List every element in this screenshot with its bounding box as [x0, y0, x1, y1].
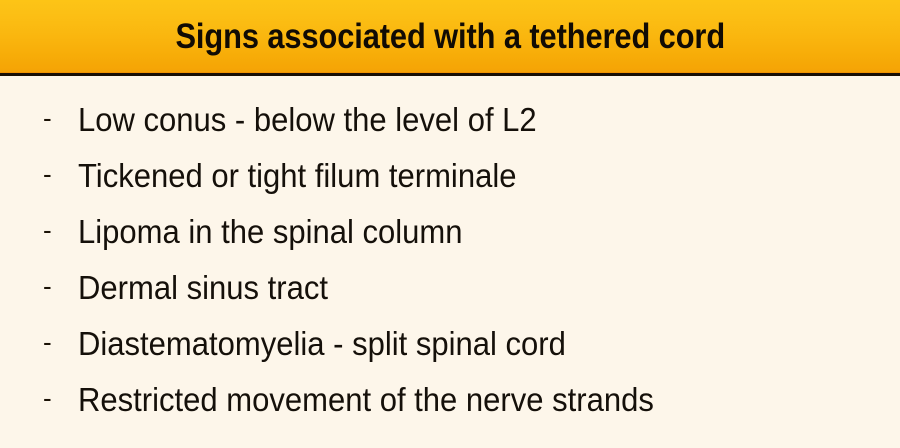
list-item: - Lipoma in the spinal column	[0, 204, 900, 260]
list-item: - Diastematomyelia - split spinal cord	[0, 316, 900, 372]
list-item-label: Restricted movement of the nerve strands	[78, 382, 654, 418]
list-item: - Low conus - below the level of L2	[0, 92, 900, 148]
slide-canvas: Signs associated with a tethered cord - …	[0, 0, 900, 448]
dash-marker-icon: -	[43, 217, 78, 243]
dash-marker-icon: -	[43, 329, 78, 355]
dash-marker-icon: -	[43, 273, 78, 299]
dash-marker-icon: -	[43, 385, 78, 411]
page-title: Signs associated with a tethered cord	[175, 19, 725, 54]
title-bar: Signs associated with a tethered cord	[0, 0, 900, 72]
list-item-label: Diastematomyelia - split spinal cord	[78, 326, 566, 362]
signs-list: - Low conus - below the level of L2 - Ti…	[0, 76, 900, 448]
list-item-label: Low conus - below the level of L2	[78, 102, 537, 138]
list-item-label: Tickened or tight filum terminale	[78, 158, 516, 194]
dash-marker-icon: -	[43, 105, 78, 131]
list-item: - Dermal sinus tract	[0, 260, 900, 316]
list-item-label: Lipoma in the spinal column	[78, 214, 463, 250]
list-item: - Restricted movement of the nerve stran…	[0, 372, 900, 428]
list-item: - Tickened or tight filum terminale	[0, 148, 900, 204]
dash-marker-icon: -	[43, 161, 78, 187]
list-item-label: Dermal sinus tract	[78, 270, 328, 306]
